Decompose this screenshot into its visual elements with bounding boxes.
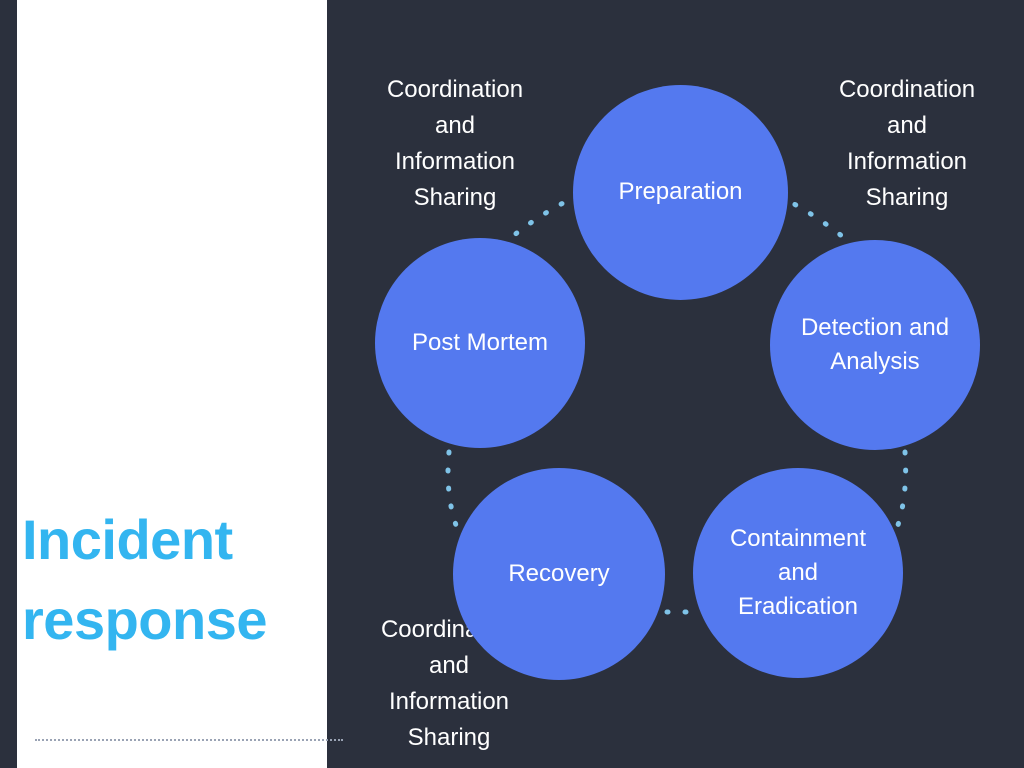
page-title: Incident response xyxy=(22,500,306,659)
node-recovery[interactable]: Recovery xyxy=(453,468,665,680)
slide-canvas: Incident response xyxy=(0,0,1024,768)
node-containment-and-eradication[interactable]: Containment and Eradication xyxy=(693,468,903,678)
side-label-top-right: Coordination and Information Sharing xyxy=(797,72,1017,216)
node-post-mortem[interactable]: Post Mortem xyxy=(375,238,585,448)
left-edge-strip xyxy=(0,0,17,768)
panel-divider xyxy=(35,739,343,741)
node-detection-and-analysis-label: Detection and Analysis xyxy=(801,311,949,379)
node-recovery-label: Recovery xyxy=(508,557,609,591)
node-preparation-label: Preparation xyxy=(618,175,742,209)
side-label-top-left: Coordination and Information Sharing xyxy=(355,72,555,216)
node-detection-and-analysis[interactable]: Detection and Analysis xyxy=(770,240,980,450)
incident-response-cycle-diagram: Coordination and Information Sharing Coo… xyxy=(327,0,1024,768)
node-preparation[interactable]: Preparation xyxy=(573,85,788,300)
node-containment-and-eradication-label: Containment and Eradication xyxy=(730,522,866,624)
node-post-mortem-label: Post Mortem xyxy=(412,326,548,360)
